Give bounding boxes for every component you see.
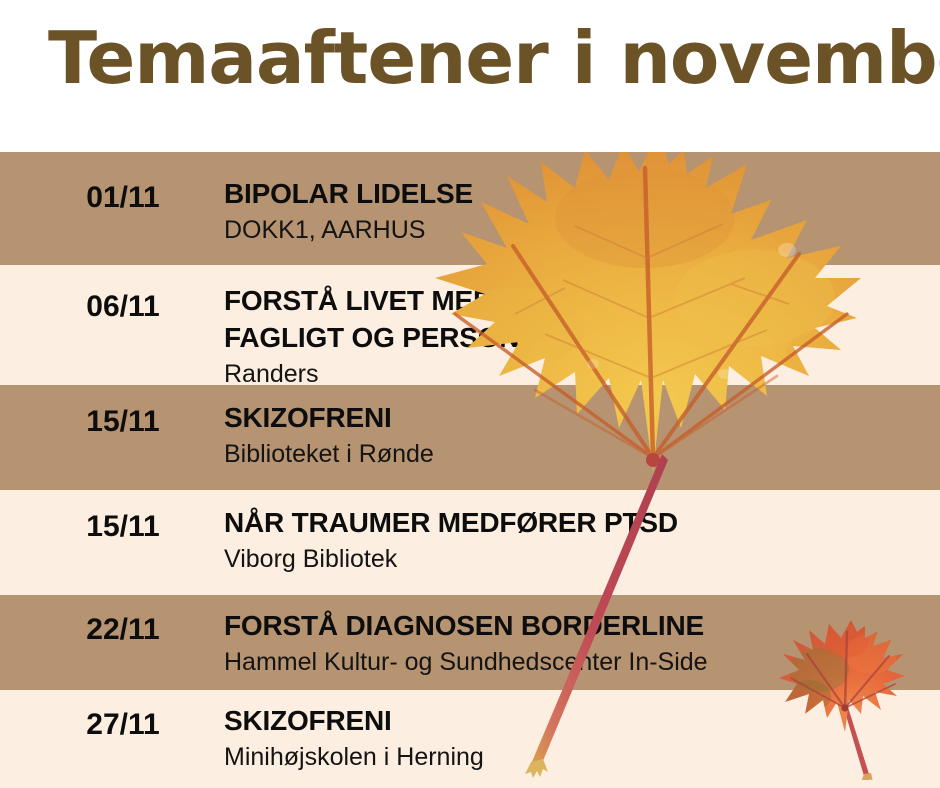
schedule-row[interactable]: 01/11 BIPOLAR LIDELSE DOKK1, AARHUS: [0, 152, 940, 265]
event-body: FORSTÅ DIAGNOSEN BORDERLINE Hammel Kultu…: [224, 608, 930, 678]
event-title: NÅR TRAUMER MEDFØRER PTSD: [224, 505, 930, 542]
poster-header: Temaaftener i november: [0, 0, 940, 152]
event-date: 27/11: [48, 708, 198, 742]
event-date: 15/11: [48, 405, 198, 439]
event-body: BIPOLAR LIDELSE DOKK1, AARHUS: [224, 176, 930, 246]
page-title: Temaaftener i november: [48, 22, 940, 94]
event-title: FORSTÅ LIVET MED AUTISME UD FRA ET FAGLI…: [224, 283, 930, 357]
event-title: BIPOLAR LIDELSE: [224, 176, 930, 213]
event-venue: Viborg Bibliotek: [224, 544, 930, 575]
event-body: FORSTÅ LIVET MED AUTISME UD FRA ET FAGLI…: [224, 283, 930, 390]
schedule-row[interactable]: 06/11 FORSTÅ LIVET MED AUTISME UD FRA ET…: [0, 265, 940, 385]
event-title: SKIZOFRENI: [224, 703, 930, 740]
event-date: 06/11: [48, 290, 198, 324]
schedule-row[interactable]: 22/11 FORSTÅ DIAGNOSEN BORDERLINE Hammel…: [0, 595, 940, 690]
poster-canvas: 01/11 BIPOLAR LIDELSE DOKK1, AARHUS 06/1…: [0, 0, 940, 788]
schedule-list: 01/11 BIPOLAR LIDELSE DOKK1, AARHUS 06/1…: [0, 152, 940, 788]
event-venue: Minihøjskolen i Herning: [224, 742, 930, 773]
event-body: SKIZOFRENI Minihøjskolen i Herning: [224, 703, 930, 773]
event-date: 22/11: [48, 613, 198, 647]
schedule-row[interactable]: 15/11 SKIZOFRENI Biblioteket i Rønde: [0, 385, 940, 490]
event-date: 01/11: [48, 181, 198, 215]
schedule-row[interactable]: 15/11 NÅR TRAUMER MEDFØRER PTSD Viborg B…: [0, 490, 940, 595]
event-venue: DOKK1, AARHUS: [224, 215, 930, 246]
event-body: SKIZOFRENI Biblioteket i Rønde: [224, 400, 930, 470]
event-venue: Biblioteket i Rønde: [224, 439, 930, 470]
event-body: NÅR TRAUMER MEDFØRER PTSD Viborg Bibliot…: [224, 505, 930, 575]
event-title: SKIZOFRENI: [224, 400, 930, 437]
schedule-row[interactable]: 27/11 SKIZOFRENI Minihøjskolen i Herning: [0, 690, 940, 788]
event-title: FORSTÅ DIAGNOSEN BORDERLINE: [224, 608, 930, 645]
event-venue: Hammel Kultur- og Sundhedscenter In-Side: [224, 647, 930, 678]
event-date: 15/11: [48, 510, 198, 544]
